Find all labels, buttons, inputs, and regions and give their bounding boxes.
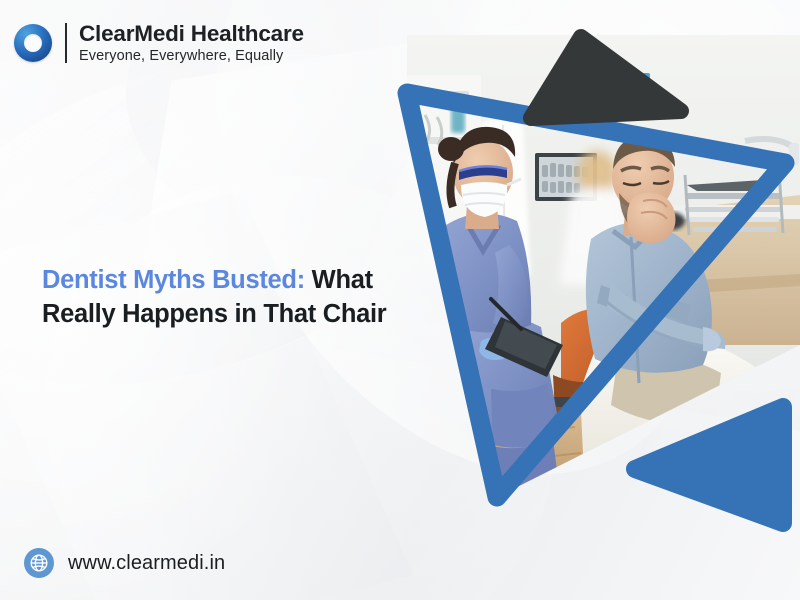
logo-divider (65, 23, 67, 63)
brand-name: ClearMedi Healthcare (79, 23, 304, 46)
logo-inner-circle (24, 34, 42, 52)
promotional-banner: ClearMedi Healthcare Everyone, Everywher… (0, 0, 800, 600)
website-url[interactable]: www.clearmedi.in (68, 552, 225, 575)
clearmedi-ring-logo-icon (14, 24, 52, 62)
website-footer[interactable]: www.clearmedi.in (24, 548, 225, 578)
brand-tagline: Everyone, Everywhere, Equally (79, 49, 304, 64)
logo-text-block: ClearMedi Healthcare Everyone, Everywher… (79, 23, 304, 63)
blue-triangle-accent (635, 407, 783, 523)
hero-composition (385, 45, 800, 525)
globe-icon (24, 548, 54, 578)
headline: Dentist Myths Busted: What Really Happen… (42, 264, 392, 331)
headline-accent: Dentist Myths Busted: (42, 266, 305, 294)
brand-logo[interactable]: ClearMedi Healthcare Everyone, Everywher… (14, 17, 304, 69)
